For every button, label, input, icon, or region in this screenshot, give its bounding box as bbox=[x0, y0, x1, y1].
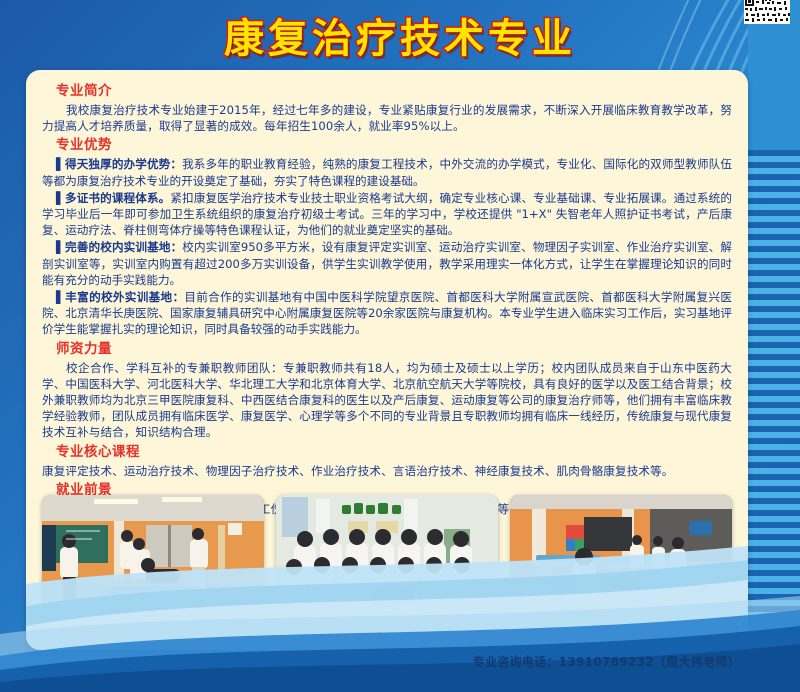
bullet-marker-icon: ▌ bbox=[56, 290, 65, 304]
section-heading-faculty: 师资力量 bbox=[56, 339, 732, 359]
section-faculty-paragraph: 校企合作、学科互补的专兼职教师团队：专兼职教师共有18人，均为硕士及硕士以上学历… bbox=[42, 360, 732, 441]
bullet-marker-icon: ▌ bbox=[56, 240, 65, 254]
advantage-bullet-1-lead: 得天独厚的办学优势： bbox=[65, 157, 182, 171]
advantage-bullet-4-lead: 丰富的校外实训基地： bbox=[65, 290, 184, 304]
advantage-bullet-1: ▌得天独厚的办学优势：我系多年的职业教育经验，纯熟的康复工程技术，中外交流的办学… bbox=[42, 156, 732, 188]
qr-code-icon[interactable] bbox=[744, 0, 790, 24]
section-intro-paragraph: 我校康复治疗技术专业始建于2015年，经过七年多的建设，专业紧贴康复行业的发展需… bbox=[42, 102, 732, 134]
section-heading-advantage: 专业优势 bbox=[56, 135, 732, 155]
page-title: 康复治疗技术专业 bbox=[0, 6, 800, 64]
section-heading-courses: 专业核心课程 bbox=[56, 442, 732, 462]
content-panel: 专业简介 我校康复治疗技术专业始建于2015年，经过七年多的建设，专业紧贴康复行… bbox=[26, 70, 748, 650]
bullet-marker-icon: ▌ bbox=[56, 191, 65, 205]
photo-therapy-lab bbox=[510, 495, 732, 623]
photo-classroom-training bbox=[42, 495, 264, 623]
photo-group-class bbox=[276, 495, 498, 623]
section-heading-intro: 专业简介 bbox=[56, 81, 732, 101]
poster-header: 康复治疗技术专业 bbox=[0, 0, 800, 68]
photo-gallery bbox=[42, 495, 732, 625]
advantage-bullet-3: ▌完善的校内实训基地：校内实训室950多平方米，设有康复评定实训室、运动治疗实训… bbox=[42, 239, 732, 288]
advantage-bullet-4: ▌丰富的校外实训基地：目前合作的实训基地有中国中医科学院望京医院、首都医科大学附… bbox=[42, 289, 732, 338]
advantage-bullet-3-lead: 完善的校内实训基地： bbox=[65, 240, 182, 254]
advantage-bullet-2-lead: 多证书的课程体系。 bbox=[65, 191, 170, 205]
advantage-bullet-2: ▌多证书的课程体系。紧扣康复医学治疗技术专业技士职业资格考试大纲，确定专业核心课… bbox=[42, 190, 732, 239]
poster-root: 康复治疗技术专业 bbox=[0, 0, 800, 692]
contact-phone: 专业咨询电话：13910789232（周大伟老师） bbox=[473, 653, 740, 670]
bullet-marker-icon: ▌ bbox=[56, 157, 65, 171]
section-courses-paragraph: 康复评定技术、运动治疗技术、物理因子治疗技术、作业治疗技术、言语治疗技术、神经康… bbox=[42, 463, 732, 479]
